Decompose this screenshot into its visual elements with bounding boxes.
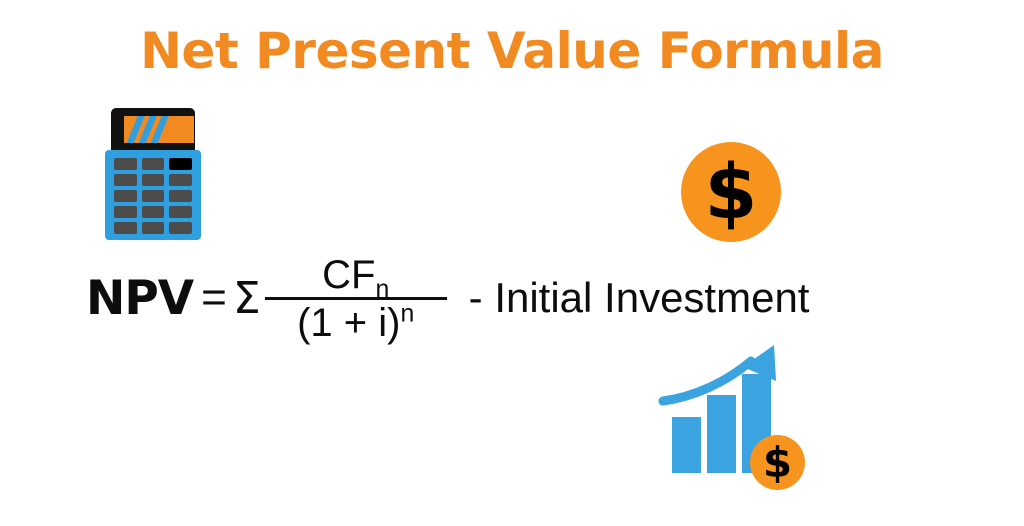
calculator-key <box>114 174 137 186</box>
calculator-key <box>142 206 165 218</box>
dollar-coin-icon: $ <box>681 142 781 242</box>
calculator-key <box>142 174 165 186</box>
calculator-display-screen <box>124 116 194 143</box>
calculator-display-bezel <box>111 108 195 152</box>
calculator-key <box>142 222 165 234</box>
denominator-superscript: n <box>400 300 414 327</box>
calculator-key <box>114 222 137 234</box>
calculator-icon <box>105 108 201 240</box>
calculator-key <box>169 190 192 202</box>
dollar-coin-small-icon: $ <box>750 435 805 490</box>
calculator-key <box>114 206 137 218</box>
dollar-sign-glyph: $ <box>681 142 781 242</box>
npv-formula: NPV = Σ CFn (1 + i)n - Initial Investmen… <box>86 248 809 348</box>
growth-chart-bar <box>672 417 701 473</box>
growth-chart-bar <box>707 395 736 473</box>
formula-denominator: (1 + i)n <box>291 300 420 345</box>
calculator-keypad <box>114 158 192 234</box>
formula-npv-label: NPV <box>86 271 193 326</box>
calculator-key <box>142 158 165 170</box>
denominator-base: (1 + i) <box>297 301 400 345</box>
calculator-key <box>169 222 192 234</box>
calculator-body <box>105 150 201 240</box>
numerator-base: CF <box>322 253 375 297</box>
calculator-key-highlighted <box>169 158 192 170</box>
formula-initial-investment-term: - Initial Investment <box>469 274 810 322</box>
calculator-key <box>142 190 165 202</box>
calculator-key <box>169 206 192 218</box>
npv-formula-infographic: Net Present Value Formula <box>0 0 1024 526</box>
calculator-key <box>114 190 137 202</box>
formula-fraction: CFn (1 + i)n <box>265 254 447 345</box>
dollar-sign-glyph: $ <box>750 435 805 490</box>
page-title: Net Present Value Formula <box>0 22 1024 80</box>
formula-equals-sign: = <box>201 273 227 323</box>
formula-numerator: CFn <box>312 254 399 297</box>
formula-sigma-icon: Σ <box>233 273 261 324</box>
growth-chart-icon: $ <box>655 343 815 491</box>
calculator-key <box>114 158 137 170</box>
calculator-key <box>169 174 192 186</box>
